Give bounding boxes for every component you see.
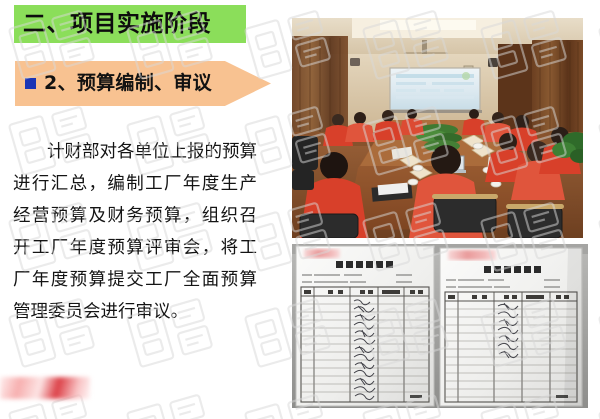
subsection-banner: 2、预算编制、审议	[15, 61, 271, 106]
square-bullet-icon	[25, 78, 36, 89]
body-paragraph: 计财部对各单位上报的预算进行汇总，编制工厂年度生产经营预算及财务预算，组织召开工…	[13, 136, 257, 328]
meeting-room-photo	[292, 18, 583, 238]
slide-canvas: 二、项目实施阶段 2、预算编制、审议 计财部对各单位上报的预算进行汇总，编制工厂…	[0, 0, 600, 419]
right-margin	[592, 0, 600, 419]
subsection-banner-label: 2、预算编制、审议	[44, 74, 212, 93]
section-banner-label: 二、项目实施阶段	[14, 13, 211, 36]
section-banner: 二、项目实施阶段	[14, 5, 246, 43]
sign-in-sheets-photo	[292, 244, 588, 408]
redacted-pink-bar	[0, 377, 90, 399]
